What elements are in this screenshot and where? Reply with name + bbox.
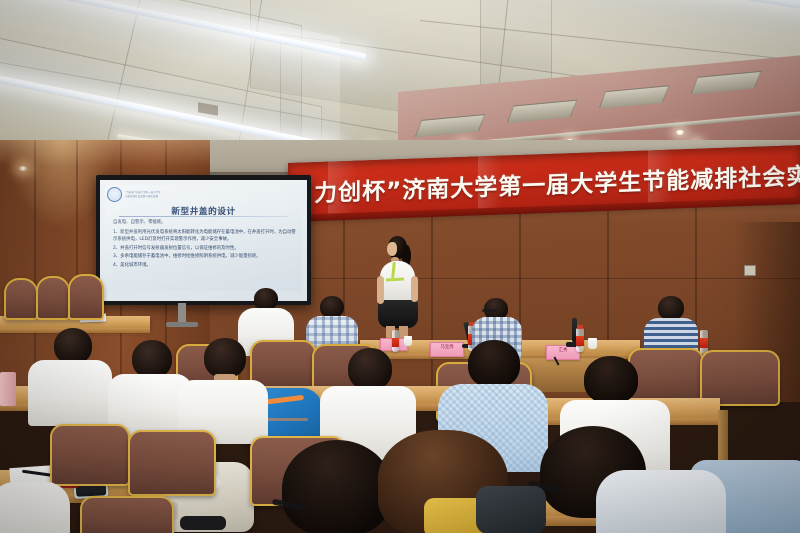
water-bottle-2 [576,328,584,352]
person-head [658,296,684,320]
presenter-face [387,242,397,256]
chair-back-left-1 [4,278,38,320]
presenter-arm-right [411,276,418,302]
person-shirt [28,360,112,426]
audience-person-foreground-6 [596,470,726,533]
presenter-blouse [380,261,415,303]
chair-foreground-4 [80,496,174,533]
person-head [282,440,392,533]
slide-bullet-4: 4、美化城市环境。 [113,263,296,270]
slide-bullet-3: 3、多余电能储存于蓄电池中，维修时给维修照明系统供电，减少能量损耗。 [113,254,296,261]
audience-person-row2-1 [28,328,112,424]
presenter-arm-left [377,276,384,304]
presenter-skirt [378,300,418,328]
pink-bottle [0,372,16,406]
left-wall-downlight [18,166,28,171]
slide-header-line1: “力创杯”济南大学第一届大学生 [125,191,161,194]
university-logo-icon [107,187,122,202]
presentation-slide: “力创杯”济南大学第一届大学生 节能减排社会实践与科技竞赛 新型井盖的设计 自发… [105,185,302,291]
person-head [254,288,278,310]
chair-foreground-2 [128,430,216,496]
chair-back-left-2 [36,276,70,320]
photo-scene: “力创杯”济南大学第一届大学生节能减排社会实践与科技 “力创杯”济南大学第一届大… [0,0,800,533]
chair-back-left-3 [68,274,104,320]
person-head [584,356,638,404]
paper-cup-2 [588,338,597,349]
presenter [372,236,428,346]
slide-subtitle: 自发电、自警示、零能耗。 [113,220,166,227]
projection-surface: “力创杯”济南大学第一届大学生 节能减排社会实践与科技竞赛 新型井盖的设计 自发… [100,180,307,301]
name-placard-2-text: 汇秀 [547,349,579,354]
audience-person-row2-3 [178,338,268,442]
person-head [468,340,520,388]
paper-cup-3 [404,336,412,346]
person-head [132,340,172,378]
person-shoulder [0,482,70,533]
dark-jacket [476,486,546,533]
person-head [54,328,92,364]
audience-person-foreground-3 [0,462,70,533]
glasses-icon [482,309,497,312]
slide-bullet-1: 1、新型井盖利用光伏发电系统将太阳能转化为电能储存在蓄电池中，在井盖打开时，为自… [113,230,296,243]
person-shoulder [596,470,726,533]
person-head [204,338,246,378]
backpack-strap-dark [180,516,226,530]
person-head [348,348,392,390]
downlight-9 [676,130,684,135]
projection-screen: “力创杯”济南大学第一届大学生 节能减排社会实践与科技竞赛 新型井盖的设计 自发… [96,175,311,305]
person-head [320,296,344,318]
slide-bullet-2: 2、井盖打开时信号发射器发射位置信号，以保证维修的及时性。 [113,246,296,253]
wall-outlet [744,265,756,276]
slide-header-line2: 节能减排社会实践与科技竞赛 [125,195,161,198]
screen-base [166,322,198,327]
